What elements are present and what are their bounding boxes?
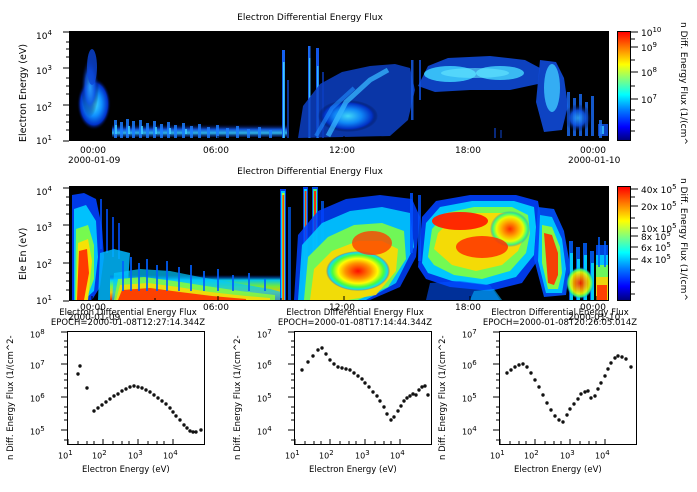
spectrum3-xtick-0: 101 <box>490 449 505 461</box>
panel1-xtick-0: 00:00 <box>80 146 106 156</box>
spectrum2-xtick-2: 103 <box>355 449 370 461</box>
spectrum2-points <box>295 332 431 444</box>
panel1-xtick-2: 12:00 <box>329 146 355 156</box>
panel2-ytick-3: 104 <box>36 185 52 198</box>
spectrum3-xtick-1: 102 <box>524 449 539 461</box>
spectrum2-ytick-0: 104 <box>257 425 272 437</box>
spectrum3-ytick-3: 107 <box>462 328 477 340</box>
spectrum2-ytick-1: 105 <box>257 392 272 404</box>
spectrum1-ytick-2: 107 <box>30 359 45 371</box>
spectrum3-ytick-0: 104 <box>462 425 477 437</box>
panel1-spectrogram-image <box>70 32 608 140</box>
spectrum1-xtick-1: 102 <box>92 449 107 461</box>
panel2-colorbar <box>617 186 631 301</box>
spectrum1-ytick-3: 108 <box>30 328 45 340</box>
panel2-cbar-tick-5: 40x 105 <box>641 183 677 196</box>
spectrum3-points <box>500 332 636 444</box>
spectrum3-xtick-2: 103 <box>560 449 575 461</box>
panel2-spectrogram-image <box>70 187 608 300</box>
spectrum2-epoch: EPOCH=2000-01-08T17:14:44.344Z <box>255 318 455 328</box>
spectrum3-xlabel: Electron Energy (eV) <box>514 465 602 475</box>
spectrum3-title: Electron Differential Energy Flux <box>460 308 660 318</box>
spectrum3-plot-area <box>499 331 637 445</box>
spectrum2-xtick-3: 104 <box>390 449 405 461</box>
spectrum2-xlabel: Electron Energy (eV) <box>309 465 397 475</box>
spectrum1-xtick-3: 104 <box>163 449 178 461</box>
panel1-xtick-1: 06:00 <box>203 146 229 156</box>
spectrum1-ytick-1: 106 <box>30 392 45 404</box>
spectrum1-points <box>68 332 204 444</box>
panel2-ytick-0: 101 <box>36 294 52 307</box>
panel2-ytick-1: 102 <box>36 258 52 271</box>
spectrum1-title: Electron Differential Energy Flux <box>28 308 228 318</box>
spectrum2-ytick-3: 107 <box>257 328 272 340</box>
panel2-colorbar-label: n Diff. Energy Flux (1/(cm^ <box>678 178 688 301</box>
spectrum2-ylabel: n Diff. Energy Flux (1/(cm^2- <box>233 335 243 460</box>
panel1-cbar-tick-0: 107 <box>641 93 657 106</box>
spectrum1-xtick-2: 103 <box>128 449 143 461</box>
spectrum1-xtick-0: 101 <box>58 449 73 461</box>
panel2-plot-area <box>69 186 609 301</box>
panel1-ytick-3: 104 <box>36 29 52 42</box>
spectrum3-ylabel: n Diff. Energy Flux (1/(cm^2- <box>438 335 448 460</box>
spectrum3-ytick-1: 105 <box>462 392 477 404</box>
spectrum2-ytick-2: 106 <box>257 359 272 371</box>
panel1-xdate-left: 2000-01-09 <box>68 156 120 166</box>
panel1-xtick-4: 00:00 <box>580 146 606 156</box>
spectrum2-xtick-1: 102 <box>319 449 334 461</box>
spectrum1-epoch: EPOCH=2000-01-08T12:27:14.344Z <box>28 318 228 328</box>
panel1-xtick-3: 18:00 <box>455 146 481 156</box>
spectrum2-title: Electron Differential Energy Flux <box>255 308 455 318</box>
panel1-ylabel: Electron Energy (eV) <box>18 44 29 142</box>
panel1-cbar-tick-2: 109 <box>641 41 657 54</box>
spectrum1-xlabel: Electron Energy (eV) <box>82 465 170 475</box>
panel1-ytick-0: 101 <box>36 134 52 147</box>
spectrum1-ytick-0: 105 <box>30 425 45 437</box>
panel1-colorbar <box>617 31 631 141</box>
panel1-cbar-tick-1: 108 <box>641 66 657 79</box>
panel1-cbar-tick-3: 1010 <box>641 26 661 39</box>
spectrum2-xtick-0: 101 <box>285 449 300 461</box>
spectrum1-plot-area <box>67 331 205 445</box>
spectrum1-ylabel: n Diff. Energy Flux (1/(cm^2- <box>6 335 16 460</box>
panel2-ytick-2: 103 <box>36 221 52 234</box>
panel1-title: Electron Differential Energy Flux <box>170 13 450 23</box>
panel1-xdate-right: 2000-01-10 <box>568 156 620 166</box>
panel2-title: Electron Differential Energy Flux <box>170 167 450 177</box>
panel2-ylabel: Ele En (eV) <box>18 228 29 280</box>
spectrum2-plot-area <box>294 331 432 445</box>
spectrum3-xtick-3: 104 <box>595 449 610 461</box>
panel1-colorbar-label: n Diff. Energy Flux (1/(cm^ <box>678 22 688 145</box>
panel1-ytick-2: 103 <box>36 64 52 77</box>
panel2-cbar-tick-4: 20x 105 <box>641 200 677 213</box>
panel1-ytick-1: 102 <box>36 101 52 114</box>
panel2-cbar-tick-3: 10x 105 <box>641 222 677 235</box>
panel1-plot-area <box>69 31 609 141</box>
panel2-cbar-tick-0: 4x 105 <box>641 253 671 266</box>
spectrum3-ytick-2: 106 <box>462 359 477 371</box>
spectrum3-epoch: EPOCH=2000-01-08T20:26:05.014Z <box>460 318 660 328</box>
